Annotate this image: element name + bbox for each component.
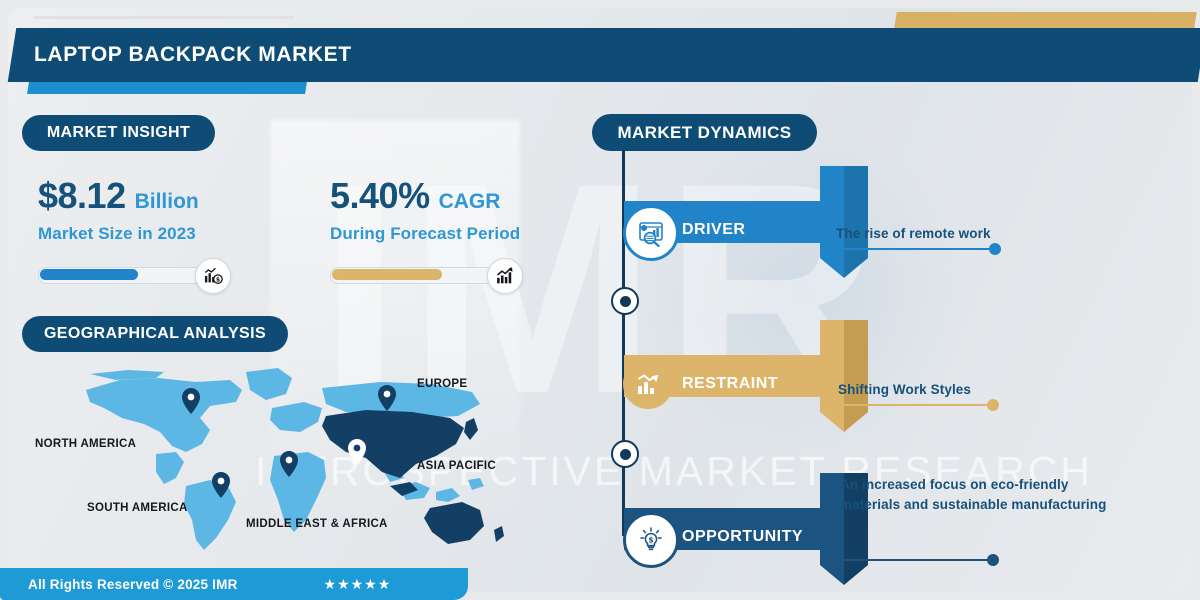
- page-title: LAPTOP BACKPACK MARKET: [34, 28, 934, 82]
- progress-market-size: $: [38, 258, 238, 292]
- driver-annotation-text: The rise of remote work: [836, 224, 1116, 244]
- report-magnifier-icon: [623, 205, 679, 261]
- metric-value: 5.40%: [330, 175, 430, 217]
- footer-bar: All Rights Reserved © 2025 IMR ★★★★★: [0, 568, 468, 600]
- progress-fill: [332, 269, 442, 280]
- svg-text:$: $: [216, 277, 220, 284]
- map-pin-europe: [378, 385, 396, 411]
- driver-label: DRIVER: [682, 209, 745, 251]
- map-label-middle-east-africa: MIDDLE EAST & AFRICA: [246, 518, 388, 530]
- restraint-label: RESTRAINT: [682, 363, 778, 405]
- opportunity-band: $ OPPORTUNITY: [624, 508, 824, 550]
- opportunity-annotation-endpoint: [987, 554, 999, 566]
- header-blue-accent: [27, 82, 307, 94]
- svg-text:$: $: [648, 535, 653, 544]
- map-pin-north-america: [182, 388, 200, 414]
- section-pill-market-insight: MARKET INSIGHT: [22, 115, 215, 151]
- driver-band: DRIVER: [624, 201, 824, 243]
- driver-annotation-line: [823, 248, 995, 250]
- driver-ribbon: [820, 166, 868, 278]
- map-label-north-america: NORTH AMERICA: [35, 438, 136, 450]
- footer-copyright: All Rights Reserved © 2025 IMR: [28, 577, 238, 592]
- metric-value: $8.12: [38, 175, 126, 217]
- map-label-south-america: SOUTH AMERICA: [87, 502, 188, 514]
- section-pill-market-dynamics: MARKET DYNAMICS: [592, 114, 817, 151]
- restraint-annotation-endpoint: [987, 399, 999, 411]
- map-label-europe: EUROPE: [417, 378, 467, 390]
- restraint-band: RESTRAINT: [624, 355, 824, 397]
- opportunity-annotation-text: An increased focus on eco-friendly mater…: [840, 475, 1112, 515]
- metric-caption: Market Size in 2023: [38, 224, 288, 244]
- restraint-annotation-line: [823, 404, 993, 406]
- timeline-node-2: [611, 440, 639, 468]
- progress-cagr: [330, 258, 530, 292]
- infographic-canvas: IMR INTROSPECTIVE MARKET RESEARCH LAPTOP…: [0, 0, 1200, 600]
- map-pin-middle-east-africa: [280, 451, 298, 477]
- driver-annotation-endpoint: [989, 243, 1001, 255]
- map-pin-asia-pacific: [348, 439, 366, 465]
- restraint-ribbon: [820, 320, 868, 432]
- metric-market-size: $8.12 Billion Market Size in 2023: [38, 175, 288, 244]
- header-top-rule: [34, 16, 294, 19]
- declining-chart-icon: [623, 359, 673, 409]
- growth-chart-arrow-icon: [487, 258, 523, 294]
- metric-unit: Billion: [135, 190, 199, 214]
- timeline-node-1: [611, 287, 639, 315]
- metric-caption: During Forecast Period: [330, 224, 590, 244]
- footer-rating-stars: ★★★★★: [324, 576, 392, 593]
- map-pin-south-america: [212, 472, 230, 498]
- map-label-asia-pacific: ASIA PACIFIC: [417, 460, 496, 472]
- metric-unit: CAGR: [439, 190, 501, 214]
- opportunity-annotation-line: [823, 559, 993, 561]
- bar-chart-dollar-icon: $: [195, 258, 231, 294]
- section-pill-geographical-analysis: GEOGRAPHICAL ANALYSIS: [22, 316, 288, 352]
- progress-fill: [40, 269, 138, 280]
- lightbulb-dollar-icon: $: [623, 512, 679, 568]
- opportunity-label: OPPORTUNITY: [682, 516, 803, 558]
- restraint-annotation-text: Shifting Work Styles: [838, 380, 1118, 400]
- world-map: NORTH AMERICA EUROPE ASIA PACIFIC SOUTH …: [60, 360, 520, 555]
- metric-cagr: 5.40% CAGR During Forecast Period: [330, 175, 590, 244]
